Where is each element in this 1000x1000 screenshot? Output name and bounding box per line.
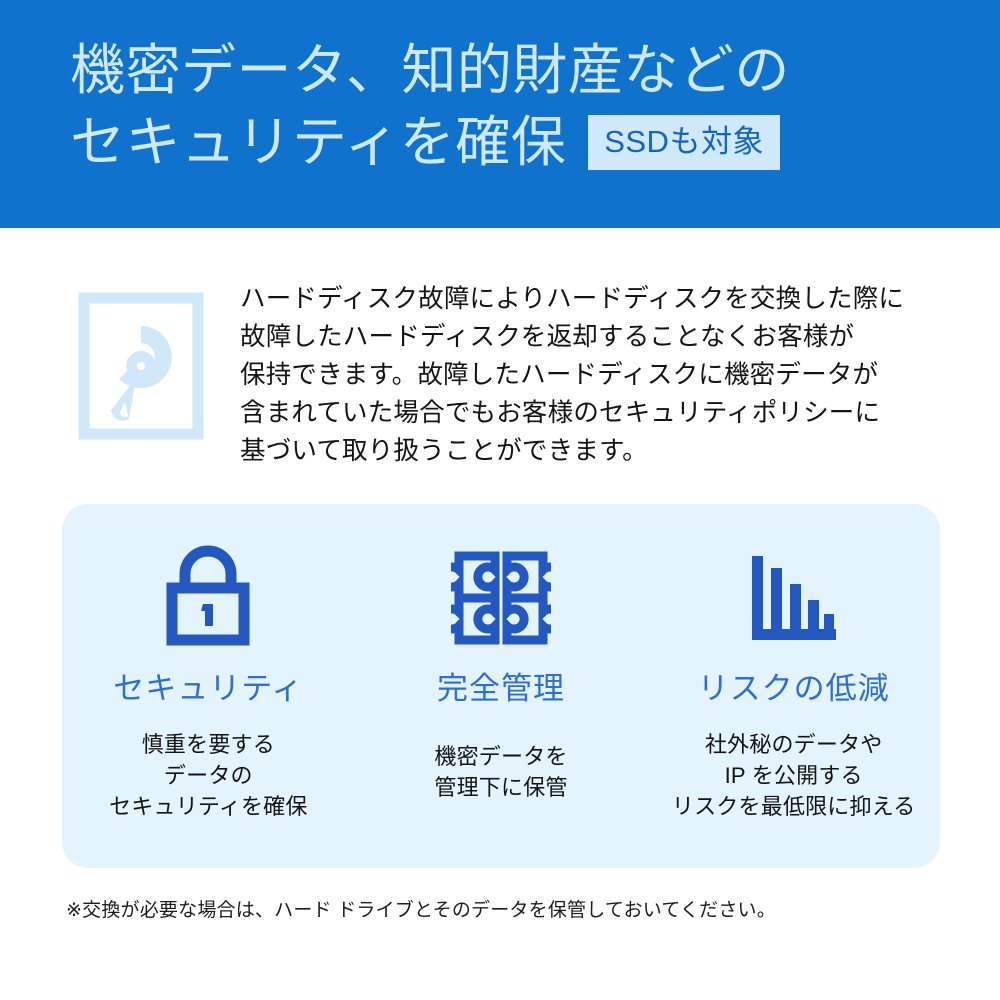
headline-line-1: 機密データ、知的財産などの — [70, 34, 1000, 106]
feature-description: 慎重を要する データの セキュリティを確保 — [109, 729, 307, 822]
feature-title: 完全管理 — [437, 670, 565, 707]
hard-disk-drive-icon — [78, 292, 204, 470]
bar-chart-decreasing-icon — [744, 544, 844, 648]
feature-title: リスクの低減 — [698, 670, 890, 707]
footnote: ※交換が必要な場合は、ハード ドライブとそのデータを保管しておいてください。 — [66, 898, 776, 924]
features-card: セキュリティ 慎重を要する データの セキュリティを確保 完全管理 機密データを… — [62, 504, 940, 868]
headline-row-2: セキュリティを確保 SSDも対象 — [70, 106, 1000, 178]
intro-paragraph: ハードディスク故障によりハードディスクを交換した際に 故障したハードディスクを返… — [240, 280, 904, 470]
feature-column-risk: リスクの低減 社外秘のデータや IP を公開する リスクを最低限に抑える — [647, 504, 940, 868]
lock-icon — [159, 544, 257, 648]
feature-title: セキュリティ — [113, 670, 303, 707]
intro-section: ハードディスク故障によりハードディスクを交換した際に 故障したハードディスクを返… — [0, 228, 1000, 470]
status-badge: SSDも対象 — [588, 115, 780, 170]
headline-line-2: セキュリティを確保 — [70, 106, 566, 178]
feature-description: 社外秘のデータや IP を公開する リスクを最低限に抑える — [672, 729, 916, 822]
header-banner: 機密データ、知的財産などの セキュリティを確保 SSDも対象 — [0, 0, 1000, 228]
puzzle-icon — [451, 544, 551, 648]
feature-column-management: 完全管理 機密データを 管理下に保管 — [355, 504, 648, 868]
feature-description: 機密データを 管理下に保管 — [434, 741, 567, 803]
feature-column-security: セキュリティ 慎重を要する データの セキュリティを確保 — [62, 504, 355, 868]
